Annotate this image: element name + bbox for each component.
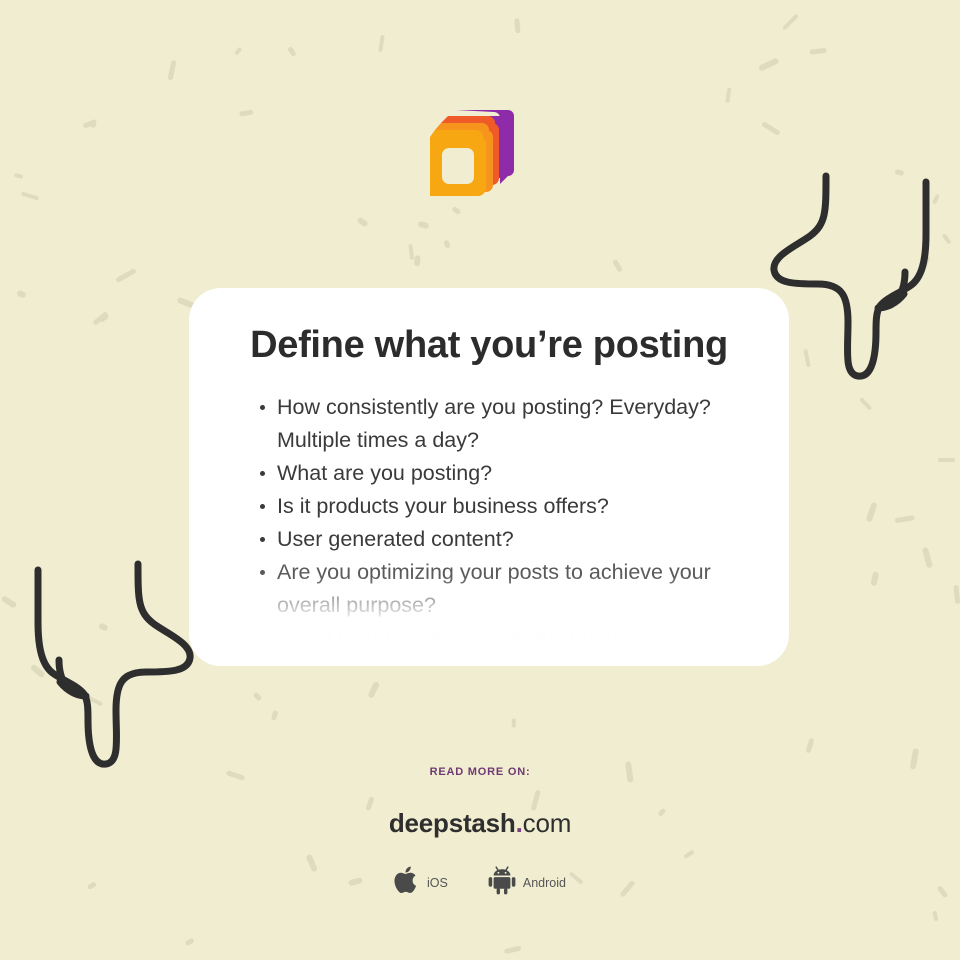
confetti-speck — [271, 710, 278, 721]
confetti-speck — [871, 572, 879, 587]
read-more-on-label: READ MORE ON: — [0, 766, 960, 778]
confetti-speck — [757, 58, 779, 72]
page-title: Define what you’re posting — [189, 288, 789, 367]
ios-label: iOS — [427, 876, 448, 890]
confetti-speck — [932, 910, 939, 921]
confetti-speck — [20, 192, 38, 202]
android-icon-glyph — [488, 865, 516, 895]
list-item: Are you optimizing your posts to achieve… — [260, 556, 749, 622]
deepstash-share-card: Define what you’re posting How consisten… — [0, 0, 960, 960]
confetti-speck — [288, 46, 298, 57]
confetti-speck — [894, 169, 903, 176]
confetti-speck — [761, 121, 780, 135]
confetti-speck — [805, 738, 815, 754]
pointing-hand-right-illustration — [762, 172, 942, 392]
confetti-speck — [443, 239, 450, 249]
list-item: User generated content? — [260, 523, 749, 556]
confetti-speck — [233, 46, 241, 55]
confetti-speck — [1, 595, 18, 608]
pointing-hand-icon — [762, 172, 942, 387]
confetti-speck — [16, 290, 26, 299]
bullet-list: How consistently are you posting? Everyd… — [189, 367, 789, 655]
deepstash-logo-icon — [430, 104, 518, 198]
confetti-speck — [452, 206, 462, 215]
confetti-speck — [92, 311, 108, 326]
confetti-speck — [938, 458, 955, 462]
confetti-speck — [414, 255, 420, 266]
list-item: How consistently are you posting? Everyd… — [260, 391, 749, 457]
apple-icon-glyph — [394, 865, 420, 895]
app-store-badges: iOS — [0, 865, 960, 900]
content-card: Define what you’re posting How consisten… — [189, 288, 789, 666]
apple-icon — [394, 865, 420, 900]
android-icon — [488, 865, 516, 900]
confetti-speck — [920, 255, 931, 270]
confetti-speck — [894, 515, 914, 523]
brand-tld: com — [523, 808, 572, 838]
confetti-speck — [859, 397, 873, 411]
list-item: Using hashtags the proper hashtags — [260, 622, 749, 655]
confetti-speck — [922, 547, 933, 569]
confetti-speck — [932, 194, 940, 205]
confetti-speck — [408, 244, 414, 261]
confetti-speck — [803, 349, 810, 367]
confetti-speck — [368, 681, 381, 699]
deepstash-logo — [430, 104, 518, 198]
brand-wordmark: deepstash.com — [0, 808, 960, 839]
confetti-speck — [253, 691, 262, 701]
confetti-speck — [167, 60, 176, 81]
brand-dot: . — [516, 808, 523, 838]
confetti-speck — [13, 173, 23, 179]
list-item: What are you posting? — [260, 457, 749, 490]
confetti-speck — [612, 259, 623, 272]
confetti-speck — [357, 216, 370, 227]
brand-name: deepstash — [389, 808, 516, 838]
ios-badge[interactable]: iOS — [394, 865, 448, 900]
confetti-speck — [184, 938, 194, 947]
confetti-speck — [512, 719, 516, 728]
confetti-speck — [98, 623, 108, 632]
confetti-speck — [30, 664, 45, 678]
footer: READ MORE ON: deepstash.com iOS — [0, 766, 960, 900]
confetti-speck — [866, 502, 878, 522]
confetti-speck — [941, 233, 951, 245]
confetti-speck — [378, 34, 385, 51]
confetti-speck — [115, 268, 137, 283]
confetti-speck — [86, 695, 102, 706]
android-label: Android — [523, 876, 566, 890]
confetti-speck — [504, 945, 522, 954]
confetti-speck — [86, 120, 96, 128]
confetti-speck — [782, 14, 799, 31]
list-item: Is it products your business offers? — [260, 490, 749, 523]
pointing-hand-icon — [22, 560, 202, 775]
confetti-speck — [514, 18, 520, 33]
confetti-speck — [810, 48, 827, 55]
confetti-speck — [83, 118, 98, 128]
confetti-speck — [953, 585, 960, 605]
confetti-speck — [418, 221, 430, 229]
confetti-speck — [726, 87, 732, 102]
confetti-speck — [99, 313, 110, 323]
android-badge[interactable]: Android — [488, 865, 566, 900]
confetti-speck — [239, 110, 254, 117]
pointing-hand-left-illustration — [22, 560, 202, 780]
